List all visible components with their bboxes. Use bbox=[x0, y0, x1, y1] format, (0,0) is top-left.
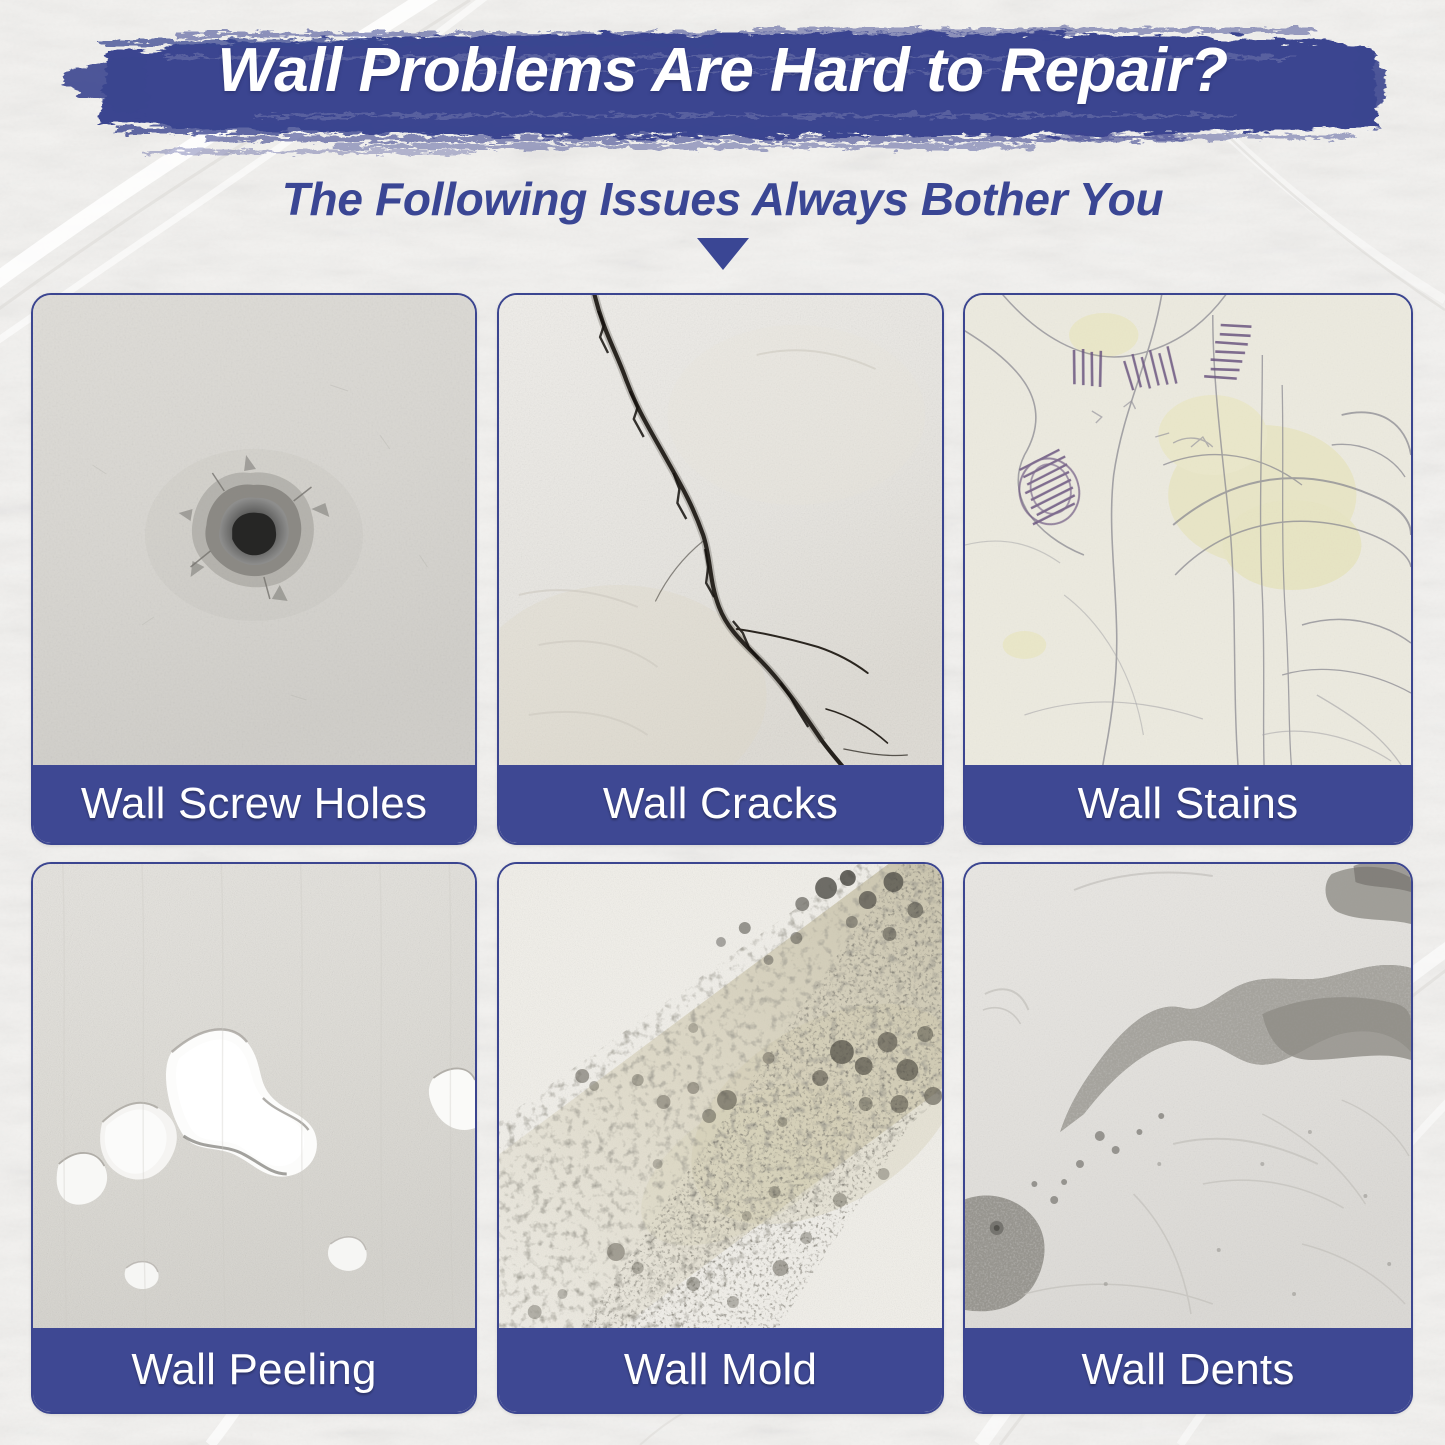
peeling-paint-photo bbox=[33, 864, 475, 1330]
card-label: Wall Peeling bbox=[33, 1328, 475, 1412]
card-wall-peeling[interactable]: Wall Peeling bbox=[31, 862, 477, 1414]
card-wall-cracks[interactable]: Wall Cracks bbox=[497, 293, 944, 845]
card-wall-screw-holes[interactable]: Wall Screw Holes bbox=[31, 293, 477, 845]
page-subtitle: The Following Issues Always Bother You bbox=[0, 172, 1445, 226]
card-label: Wall Screw Holes bbox=[33, 765, 475, 843]
card-wall-dents[interactable]: Wall Dents bbox=[963, 862, 1413, 1414]
card-label: Wall Mold bbox=[499, 1328, 942, 1412]
header: Wall Problems Are Hard to Repair? The Fo… bbox=[0, 0, 1445, 285]
triangle-down-icon bbox=[697, 238, 749, 270]
crayon-stains-photo bbox=[965, 295, 1411, 767]
screw-hole-photo bbox=[33, 295, 475, 767]
card-wall-stains[interactable]: Wall Stains bbox=[963, 293, 1413, 845]
wall-crack-photo bbox=[499, 295, 942, 767]
card-label: Wall Dents bbox=[965, 1328, 1411, 1412]
card-label: Wall Cracks bbox=[499, 765, 942, 843]
page-title: Wall Problems Are Hard to Repair? bbox=[0, 40, 1445, 102]
wall-dents-photo bbox=[965, 864, 1411, 1330]
card-wall-mold[interactable]: Wall Mold bbox=[497, 862, 944, 1414]
card-label: Wall Stains bbox=[965, 765, 1411, 843]
wall-mold-photo bbox=[499, 864, 942, 1330]
